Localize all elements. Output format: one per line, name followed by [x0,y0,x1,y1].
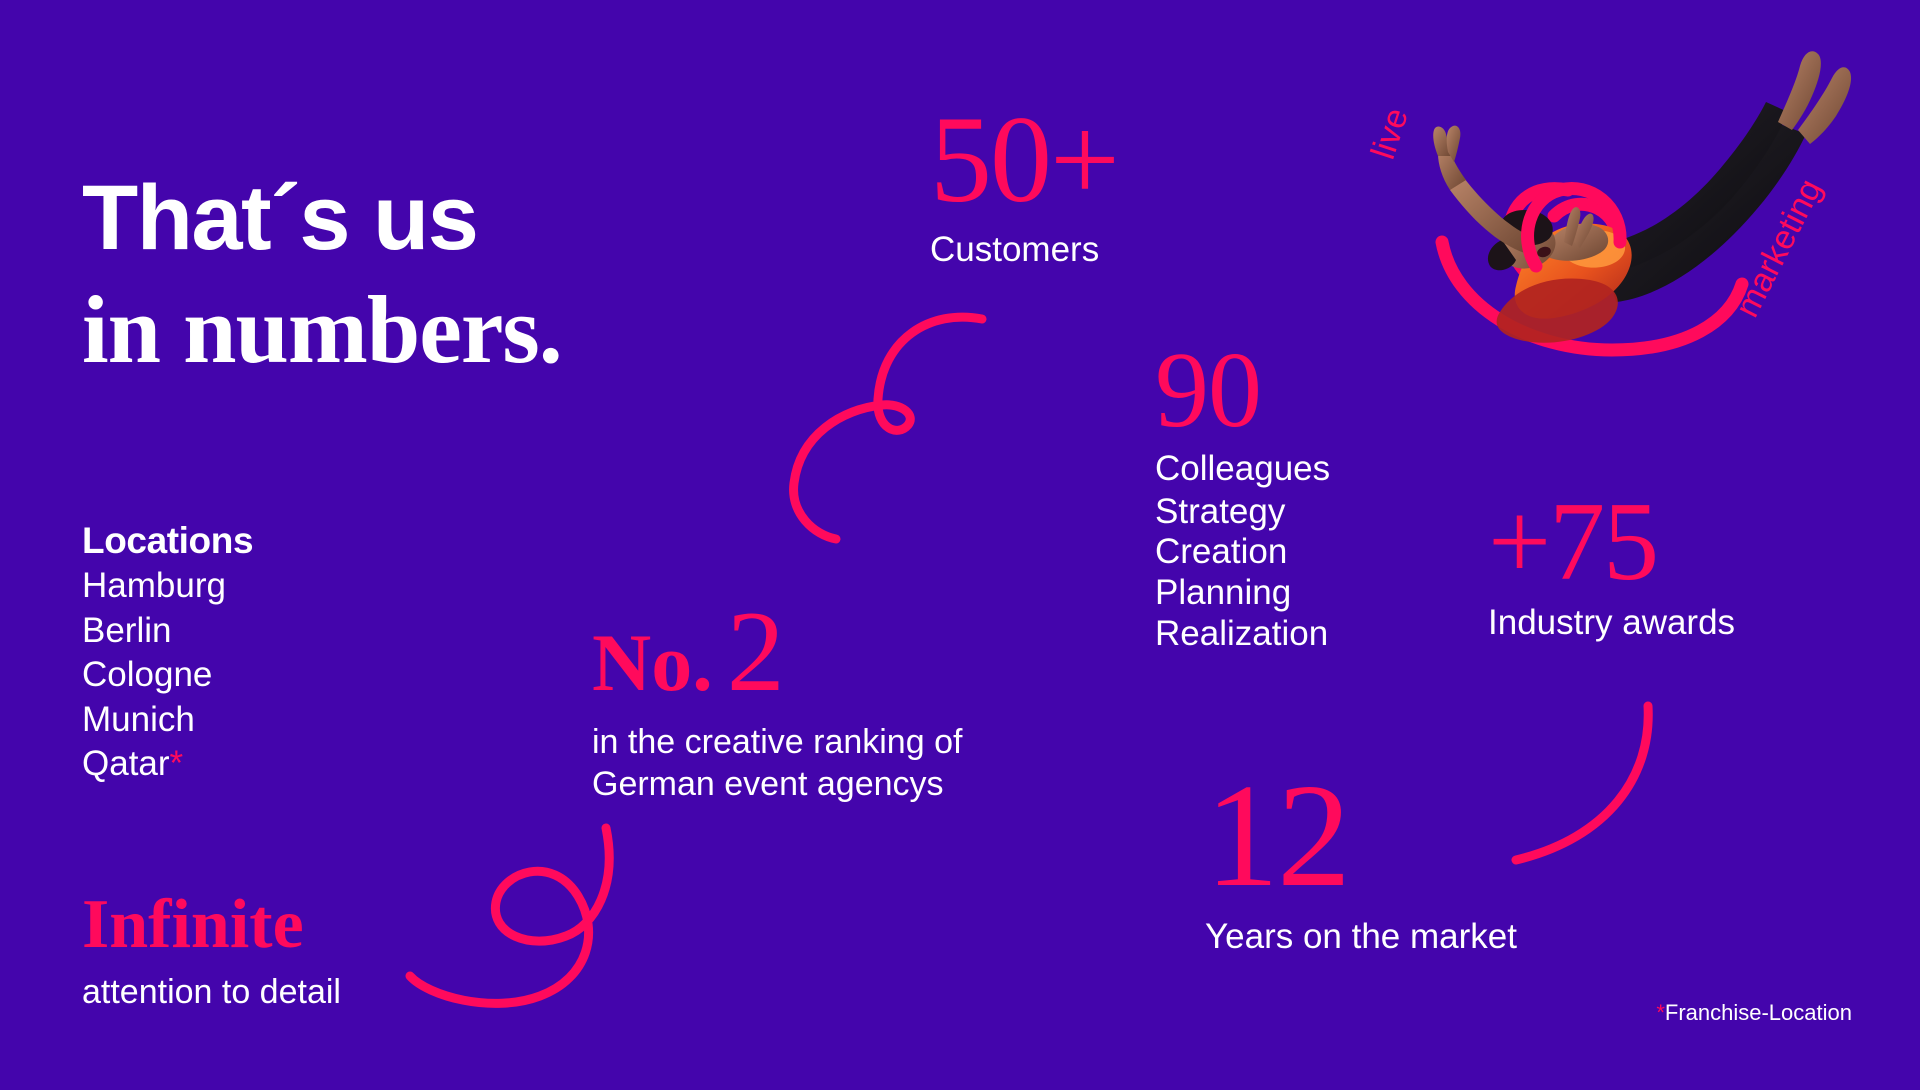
stat-ranking: No.2 in the creative ranking of German e… [592,600,962,805]
footnote-mark: * [1656,1000,1665,1025]
location-item: Cologne [82,653,253,697]
location-name: Cologne [82,655,212,694]
stat-ranking-label-line-1: in the creative ranking of [592,722,962,763]
footnote: *Franchise-Location [1656,1000,1852,1026]
location-item: Munich [82,698,253,742]
stat-ranking-prefix: No. [592,617,713,708]
locations-title: Locations [82,518,253,564]
service-item: Realization [1155,614,1330,655]
stat-customers: 50+ Customers [930,104,1118,270]
location-item: Qatar* [82,742,253,786]
stat-customers-label: Customers [930,230,1118,271]
stat-infinite-value: Infinite [82,890,341,960]
infographic-canvas: live marketing That´s us in numbers. Loc… [0,0,1920,1090]
stat-infinite-label: attention to detail [82,972,341,1013]
headline-line-1: That´s us [82,172,842,264]
headline-line-2: in numbers. [82,282,842,378]
stat-ranking-label-line-2: German event agencys [592,764,962,805]
stat-ranking-label: in the creative ranking of German event … [592,722,962,805]
stat-awards: +75 Industry awards [1488,492,1735,643]
location-name: Hamburg [82,566,226,605]
stat-colleagues-label: Colleagues [1155,449,1330,490]
location-item: Berlin [82,609,253,653]
stat-colleagues-value: 90 [1155,342,1330,439]
stat-years: 12 Years on the market [1205,770,1517,958]
location-name: Berlin [82,611,171,650]
stat-awards-label: Industry awards [1488,603,1735,644]
service-item: Creation [1155,532,1330,573]
loop-squiggle-bottom-icon [380,810,650,1020]
location-item: Hamburg [82,564,253,608]
stat-colleagues: 90 Colleagues Strategy Creation Planning… [1155,342,1330,654]
stat-years-label: Years on the market [1205,917,1517,958]
stat-years-value: 12 [1205,770,1517,903]
location-name: Munich [82,700,195,739]
services-list: Strategy Creation Planning Realization [1155,492,1330,654]
stat-awards-value: +75 [1488,492,1735,593]
location-name: Qatar [82,744,170,783]
page-title: That´s us in numbers. [82,172,842,378]
stat-infinite: Infinite attention to detail [82,890,341,1013]
stat-customers-value: 50+ [930,104,1118,216]
location-mark: * [170,744,184,783]
hero-graphic: live marketing [1368,30,1868,360]
service-item: Planning [1155,573,1330,614]
locations-block: Locations Hamburg Berlin Cologne Munich … [82,518,253,786]
footnote-text: Franchise-Location [1665,1000,1852,1025]
stat-ranking-value: No.2 [592,600,962,704]
service-item: Strategy [1155,492,1330,533]
stat-ranking-number: 2 [727,588,785,716]
